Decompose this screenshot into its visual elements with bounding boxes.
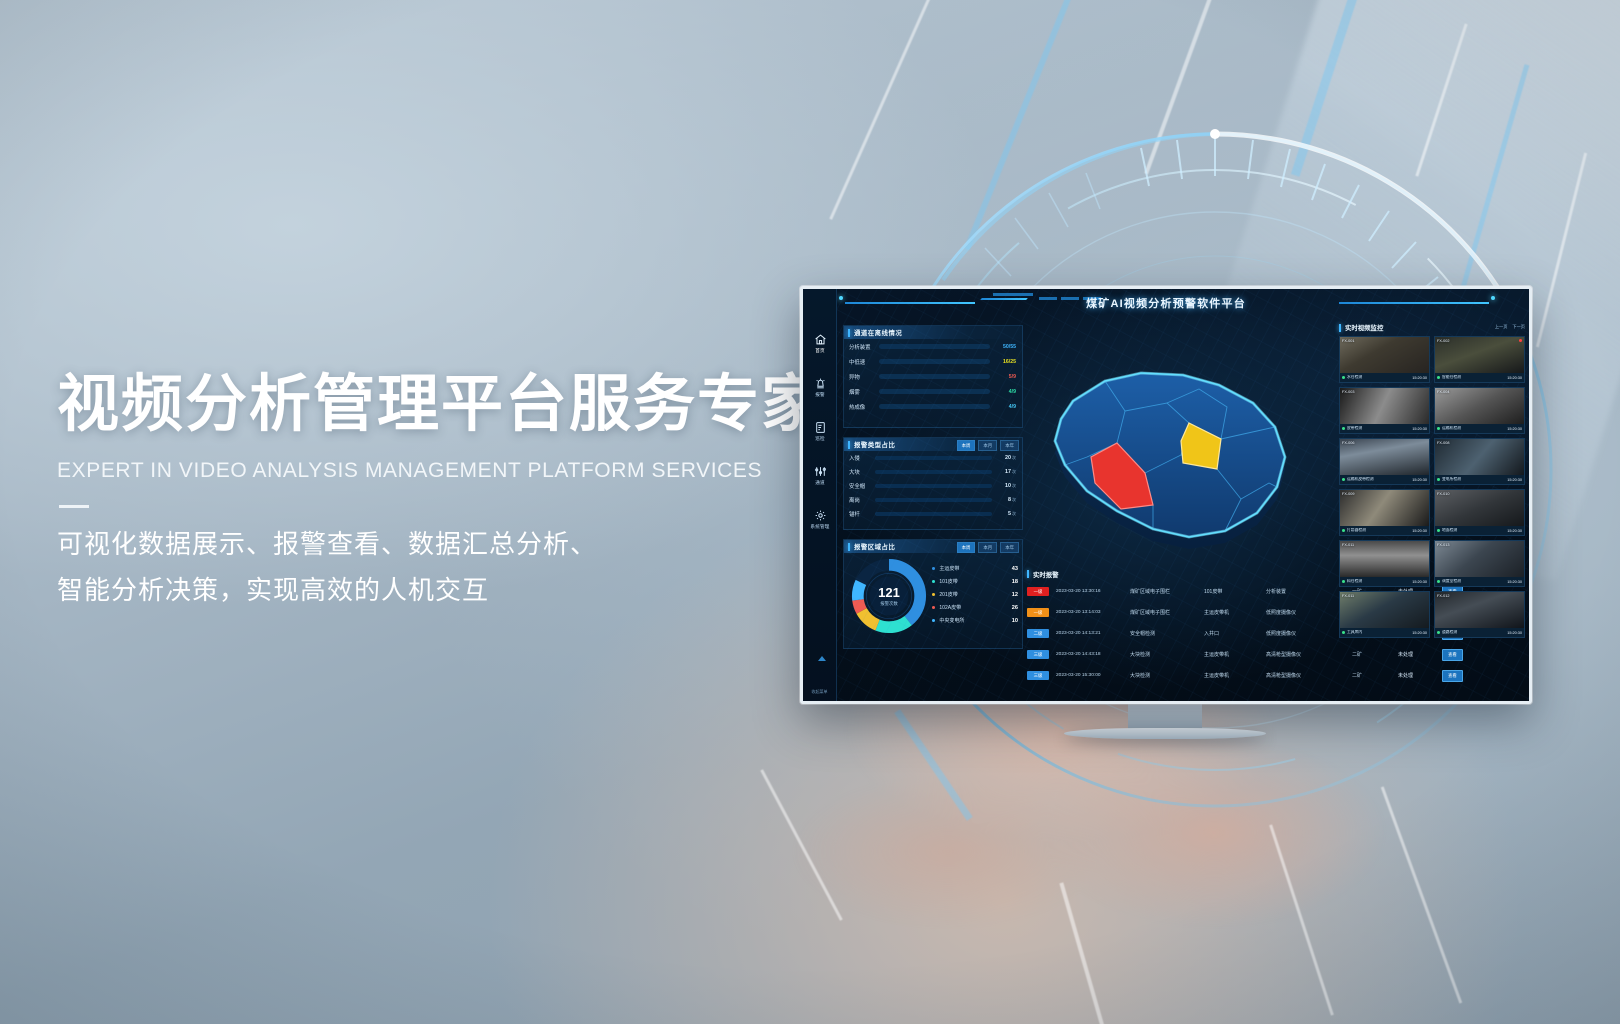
- camera-id: FX-013: [1437, 543, 1449, 547]
- status-badge: 三级: [1027, 671, 1049, 680]
- time-range-tabs: 本周 本月 本年: [957, 542, 1019, 553]
- alarm-location: 主运皮带机: [1204, 651, 1266, 658]
- accent-bar: [848, 543, 850, 551]
- panel-header: 实时视频监控 上一页 下一页: [1339, 321, 1525, 334]
- alarm-type-panel: 报警类型占比 本周 本月 本年 入侵 20次 大块 17次 安全帽 10次: [843, 437, 1023, 530]
- online-indicator: [1437, 427, 1440, 430]
- panel-header: 报警类型占比 本周 本月 本年: [844, 438, 1022, 451]
- alarm-type-value: 20次: [992, 455, 1016, 461]
- alarm-lamp-icon: [814, 377, 827, 390]
- status-badge: 三级: [1027, 650, 1049, 659]
- channel-row: 异物 5/9: [844, 369, 1022, 384]
- sidebar-item-alarm[interactable]: 报警: [803, 365, 837, 409]
- panel-title: 报警区域占比: [854, 542, 895, 551]
- alarm-type-row: 入侵 20次: [844, 451, 1022, 465]
- channel-label: 中低速: [849, 358, 879, 366]
- sidebar-item-label: 报警: [815, 392, 825, 398]
- legend-label: 中央变电所: [939, 617, 1011, 624]
- video-monitor-panel: 实时视频监控 上一页 下一页 FX-001 水仓检测 15:20:30 FX-0…: [1339, 321, 1525, 695]
- channel-value: 4/9: [990, 404, 1016, 410]
- home-icon: [814, 333, 827, 346]
- alarm-location: 主运皮带机: [1204, 609, 1266, 616]
- dashboard-topbar: 煤矿AI视频分析预警软件平台: [803, 289, 1529, 319]
- dashboard-screen: 煤矿AI视频分析预警软件平台 首页 报警 巡检 通道: [803, 289, 1529, 701]
- camera-footer: 打箭器检测 15:20:30: [1340, 526, 1429, 535]
- camera-feed: FX-002: [1435, 337, 1524, 373]
- camera-feed: FX-006: [1340, 439, 1429, 475]
- channel-label: 分析装置: [849, 343, 879, 351]
- camera-footer: 调度室检测 15:20:30: [1435, 577, 1524, 586]
- alarm-type-row: 锚杆 5次: [844, 507, 1022, 521]
- camera-footer: 智能仓检测 15:20:30: [1435, 373, 1524, 382]
- camera-footer: 地面检测 15:20:30: [1435, 526, 1524, 535]
- legend-value: 10: [1012, 618, 1018, 624]
- channel-row: 分析装置 50/55: [844, 339, 1022, 354]
- camera-name: 智能仓检测: [1442, 375, 1507, 380]
- tab-month[interactable]: 本月: [978, 542, 997, 553]
- accent-bar: [1027, 570, 1029, 578]
- camera-tile[interactable]: FX-011 料仓检测 15:20:30: [1339, 540, 1430, 587]
- alarm-type-value: 8次: [992, 497, 1016, 503]
- camera-feed: FX-009: [1340, 490, 1429, 526]
- legend-label: 201皮带: [939, 591, 1011, 598]
- channel-label: 异物: [849, 373, 879, 381]
- sidebar-item-channel[interactable]: 通道: [803, 453, 837, 497]
- camera-id: FX-010: [1437, 492, 1449, 496]
- camera-timestamp: 15:20:30: [1507, 376, 1522, 380]
- channel-row: 热成像 4/9: [844, 399, 1022, 414]
- legend-color-dot: [932, 567, 935, 570]
- legend-item: 101皮带 18: [932, 575, 1018, 588]
- camera-name: 运输机皮带检测: [1347, 477, 1412, 482]
- panel-header: 报警区域占比 本周 本月 本年: [844, 540, 1022, 553]
- status-badge: 二级: [1027, 629, 1049, 638]
- camera-tile[interactable]: FX-012 道路检测 15:20:30: [1434, 591, 1525, 638]
- monitor-frame: 煤矿AI视频分析预警软件平台 首页 报警 巡检 通道: [800, 286, 1532, 704]
- camera-id: FX-003: [1342, 390, 1354, 394]
- camera-tile[interactable]: FX-001 水仓检测 15:20:30: [1339, 336, 1430, 383]
- panel-header: 通道在离线情况: [844, 326, 1022, 339]
- divider: [59, 505, 89, 508]
- legend-item: 102A皮带 26: [932, 601, 1018, 614]
- channel-row: 中低速 16/25: [844, 354, 1022, 369]
- camera-footer: 料仓检测 15:20:30: [1340, 577, 1429, 586]
- camera-name: 变电所检测: [1442, 477, 1507, 482]
- channel-row-list: 分析装置 50/55 中低速 16/25 异物 5/9 烟雾 4/9 热成像: [844, 339, 1022, 414]
- camera-timestamp: 15:20:30: [1507, 580, 1522, 584]
- alarm-type-label: 入侵: [849, 454, 875, 462]
- alarm-time: 2023-03-20 14:13:21: [1056, 631, 1130, 636]
- camera-timestamp: 15:20:30: [1412, 580, 1427, 584]
- video-pagination: 上一页 下一页: [1495, 324, 1525, 330]
- camera-feed: FX-012: [1435, 592, 1524, 628]
- sidebar-item-home[interactable]: 首页: [803, 321, 837, 365]
- panel-title: 实时视频监控: [1345, 323, 1383, 332]
- legend-item: 主运皮带 43: [932, 562, 1018, 575]
- accent-bar: [848, 329, 850, 337]
- sidebar-item-label: 通道: [815, 480, 825, 486]
- gear-icon: [814, 509, 827, 522]
- channel-value: 16/25: [990, 359, 1016, 365]
- legend-label: 主运皮带: [939, 565, 1011, 572]
- alarm-type-row: 离岗 8次: [844, 493, 1022, 507]
- channel-progress-track: [879, 359, 990, 364]
- legend-value: 26: [1012, 605, 1018, 611]
- camera-timestamp: 15:20:30: [1412, 376, 1427, 380]
- accent-bar: [848, 441, 850, 449]
- camera-tile[interactable]: FX-009 打箭器检测 15:20:30: [1339, 489, 1430, 536]
- camera-tile[interactable]: FX-006 运输机皮带检测 15:20:30: [1339, 438, 1430, 485]
- camera-footer: 运输机皮带检测 15:20:30: [1340, 475, 1429, 484]
- alarm-type: 大块检测: [1130, 672, 1204, 679]
- camera-id: FX-004: [1437, 390, 1449, 394]
- camera-footer: 工具库内 15:20:30: [1340, 628, 1429, 637]
- alarm-type-track: [875, 456, 992, 460]
- camera-tile[interactable]: FX-013 调度室检测 15:20:30: [1434, 540, 1525, 587]
- hero-description-line-2: 智能分析决策，实现高效的人机交互: [57, 568, 817, 614]
- camera-name: 道路检测: [1442, 630, 1507, 635]
- legend-item: 201皮带 12: [932, 588, 1018, 601]
- camera-timestamp: 15:20:30: [1507, 427, 1522, 431]
- legend-value: 43: [1012, 566, 1018, 572]
- tab-year[interactable]: 本年: [1000, 542, 1019, 553]
- alarm-type-track: [875, 498, 992, 502]
- page-title: 视频分析管理平台服务专家: [57, 372, 817, 437]
- status-badge: 一级: [1027, 608, 1049, 617]
- channel-progress-track: [879, 344, 990, 349]
- camera-feed: FX-001: [1340, 337, 1429, 373]
- camera-tile[interactable]: FX-010 地面检测 15:20:30: [1434, 489, 1525, 536]
- alarm-region-donut-chart: 121 报警次数: [850, 557, 928, 635]
- alarm-type-track: [875, 512, 992, 516]
- alarm-type-value: 5次: [992, 511, 1016, 517]
- camera-feed: FX-011: [1340, 541, 1429, 577]
- online-indicator: [1342, 427, 1345, 430]
- alarm-type-track: [875, 470, 992, 474]
- status-badge: 一级: [1027, 587, 1049, 596]
- hero-description-line-1: 可视化数据展示、报警查看、数据汇总分析、: [57, 522, 817, 568]
- legend-label: 101皮带: [939, 578, 1011, 585]
- alarm-type-row: 安全帽 10次: [844, 479, 1022, 493]
- channel-value: 50/55: [990, 344, 1016, 350]
- alarm-time: 2023-03-20 13:30:16: [1056, 589, 1130, 594]
- alarm-location: 入井口: [1204, 630, 1266, 637]
- donut-center-label: 报警次数: [880, 601, 898, 607]
- donut-center: 121 报警次数: [850, 557, 928, 635]
- sidebar-item-inspection[interactable]: 巡检: [803, 409, 837, 453]
- online-indicator: [1437, 529, 1440, 532]
- channel-progress-track: [879, 404, 990, 409]
- alarm-type-label: 安全帽: [849, 482, 875, 490]
- online-indicator: [1437, 376, 1440, 379]
- online-indicator: [1437, 478, 1440, 481]
- legend-value: 12: [1012, 592, 1018, 598]
- online-indicator: [1342, 631, 1345, 634]
- tab-year[interactable]: 本年: [1000, 440, 1019, 451]
- alarm-type: 大块检测: [1130, 651, 1204, 658]
- camera-id: FX-011: [1342, 594, 1354, 598]
- camera-id: FX-009: [1342, 492, 1354, 496]
- channel-label: 烟雾: [849, 388, 879, 396]
- sidebar-item-label: 系统管理: [810, 524, 829, 530]
- online-indicator: [1342, 529, 1345, 532]
- legend-color-dot: [932, 593, 935, 596]
- camera-feed: FX-004: [1435, 388, 1524, 424]
- alarm-location: 101皮带: [1204, 588, 1266, 595]
- legend-value: 18: [1012, 579, 1018, 585]
- donut-center-value: 121: [878, 586, 900, 599]
- next-page-button[interactable]: 下一页: [1512, 324, 1525, 330]
- sidebar-item-label: 巡检: [815, 436, 825, 442]
- alarm-region-panel: 报警区域占比 本周 本月 本年: [843, 539, 1023, 649]
- online-indicator: [1437, 631, 1440, 634]
- channel-status-panel: 通道在离线情况 分析装置 50/55 中低速 16/25 异物 5/9 烟雾 4…: [843, 325, 1023, 428]
- legend-color-dot: [932, 619, 935, 622]
- sidebar-item-label: 首页: [815, 348, 825, 354]
- alarm-time: 2023-03-20 14:43:18: [1056, 652, 1130, 657]
- camera-name: 料仓检测: [1347, 579, 1412, 584]
- alarm-type-label: 锚杆: [849, 510, 875, 518]
- alarm-type-row: 大块 17次: [844, 465, 1022, 479]
- camera-id: FX-001: [1342, 339, 1354, 343]
- tab-week[interactable]: 本周: [957, 542, 976, 553]
- sidebar-collapse-arrow[interactable]: [818, 656, 826, 661]
- alarm-time: 2023-03-20 15:30:00: [1056, 673, 1130, 678]
- camera-name: 运输机检测: [1442, 426, 1507, 431]
- tab-week[interactable]: 本周: [957, 440, 976, 451]
- camera-name: 水仓检测: [1347, 375, 1412, 380]
- camera-timestamp: 15:20:30: [1507, 478, 1522, 482]
- channel-progress-track: [879, 389, 990, 394]
- online-indicator: [1437, 580, 1440, 583]
- alarm-time: 2023-03-20 13:14:03: [1056, 610, 1130, 615]
- camera-timestamp: 15:20:30: [1412, 529, 1427, 533]
- online-indicator: [1342, 478, 1345, 481]
- camera-footer: 道路检测 15:20:30: [1435, 628, 1524, 637]
- camera-name: 皮带检测: [1347, 426, 1412, 431]
- time-range-tabs: 本周 本月 本年: [957, 440, 1019, 451]
- camera-timestamp: 15:20:30: [1507, 529, 1522, 533]
- channel-row: 烟雾 4/9: [844, 384, 1022, 399]
- accent-bar: [1339, 324, 1341, 332]
- camera-tile[interactable]: FX-008 变电所检测 15:20:30: [1434, 438, 1525, 485]
- sidebar-item-system-management[interactable]: 系统管理: [803, 497, 837, 541]
- panel-title: 实时报警: [1033, 570, 1059, 579]
- camera-id: FX-012: [1437, 594, 1449, 598]
- alarm-type-row-list: 入侵 20次 大块 17次 安全帽 10次 离岗 8次 锚杆: [844, 451, 1022, 521]
- online-indicator: [1342, 376, 1345, 379]
- camera-timestamp: 15:20:30: [1412, 631, 1427, 635]
- alarm-type-label: 离岗: [849, 496, 875, 504]
- panel-title: 报警类型占比: [854, 440, 895, 449]
- channel-progress-track: [879, 374, 990, 379]
- camera-feed: FX-011: [1340, 592, 1429, 628]
- camera-feed: FX-013: [1435, 541, 1524, 577]
- camera-name: 调度室检测: [1442, 579, 1507, 584]
- alarm-type-label: 大块: [849, 468, 875, 476]
- sidebar-footer-label[interactable]: 收起菜单: [803, 689, 836, 695]
- alarm-type: 安全帽检测: [1130, 630, 1204, 637]
- alarm-type: 煤矿区域电子围栏: [1130, 588, 1204, 595]
- monitor-stand-base: [1064, 728, 1266, 739]
- alarm-type-value: 10次: [992, 483, 1016, 489]
- monitor-stand-neck: [1128, 704, 1202, 730]
- camera-name: 打箭器检测: [1347, 528, 1412, 533]
- camera-feed: FX-008: [1435, 439, 1524, 475]
- hero-copy: 视频分析管理平台服务专家 EXPERT IN VIDEO ANALYSIS MA…: [57, 372, 817, 613]
- recording-indicator: [1519, 339, 1522, 342]
- tab-month[interactable]: 本月: [978, 440, 997, 451]
- map-body: [1055, 373, 1285, 537]
- camera-footer: 运输机检测 15:20:30: [1435, 424, 1524, 433]
- camera-feed: FX-010: [1435, 490, 1524, 526]
- alarm-type: 煤矿区域电子围栏: [1130, 609, 1204, 616]
- legend-label: 102A皮带: [939, 604, 1011, 611]
- dashboard-sidebar: 首页 报警 巡检 通道 系统管理 收起菜单: [803, 289, 837, 701]
- channel-value: 4/9: [990, 389, 1016, 395]
- camera-footer: 水仓检测 15:20:30: [1340, 373, 1429, 382]
- region-map[interactable]: [1021, 323, 1311, 568]
- legend-color-dot: [932, 580, 935, 583]
- alarm-type-value: 17次: [992, 469, 1016, 475]
- channel-label: 热成像: [849, 403, 879, 411]
- camera-id: FX-002: [1437, 339, 1449, 343]
- online-indicator: [1342, 580, 1345, 583]
- camera-tile[interactable]: FX-002 智能仓检测 15:20:30: [1434, 336, 1525, 383]
- camera-timestamp: 15:20:30: [1507, 631, 1522, 635]
- alarm-location: 主运皮带机: [1204, 672, 1266, 679]
- camera-id: FX-008: [1437, 441, 1449, 445]
- camera-tile[interactable]: FX-004 运输机检测 15:20:30: [1434, 387, 1525, 434]
- prev-page-button[interactable]: 上一页: [1495, 324, 1508, 330]
- camera-id: FX-006: [1342, 441, 1354, 445]
- camera-timestamp: 15:20:30: [1412, 478, 1427, 482]
- camera-name: 工具库内: [1347, 630, 1412, 635]
- alarm-region-legend: 主运皮带 43 101皮带 18 201皮带 12 102A皮带 26 中央变电…: [932, 562, 1018, 627]
- camera-name: 地面检测: [1442, 528, 1507, 533]
- camera-id: FX-011: [1342, 543, 1354, 547]
- panel-title: 通道在离线情况: [854, 328, 902, 337]
- camera-timestamp: 15:20:30: [1412, 427, 1427, 431]
- camera-tile[interactable]: FX-011 工具库内 15:20:30: [1339, 591, 1430, 638]
- dashboard-title: 煤矿AI视频分析预警软件平台: [803, 295, 1529, 311]
- camera-tile[interactable]: FX-003 皮带检测 15:20:30: [1339, 387, 1430, 434]
- sliders-icon: [814, 465, 827, 478]
- page-subtitle: EXPERT IN VIDEO ANALYSIS MANAGEMENT PLAT…: [57, 459, 817, 483]
- legend-item: 中央变电所 10: [932, 614, 1018, 627]
- camera-footer: 变电所检测 15:20:30: [1435, 475, 1524, 484]
- camera-feed: FX-003: [1340, 388, 1429, 424]
- clipboard-check-icon: [814, 421, 827, 434]
- channel-value: 5/9: [990, 374, 1016, 380]
- alarm-type-track: [875, 484, 992, 488]
- legend-color-dot: [932, 606, 935, 609]
- camera-grid: FX-001 水仓检测 15:20:30 FX-002 智能仓检测 15:20:…: [1339, 336, 1525, 638]
- camera-footer: 皮带检测 15:20:30: [1340, 424, 1429, 433]
